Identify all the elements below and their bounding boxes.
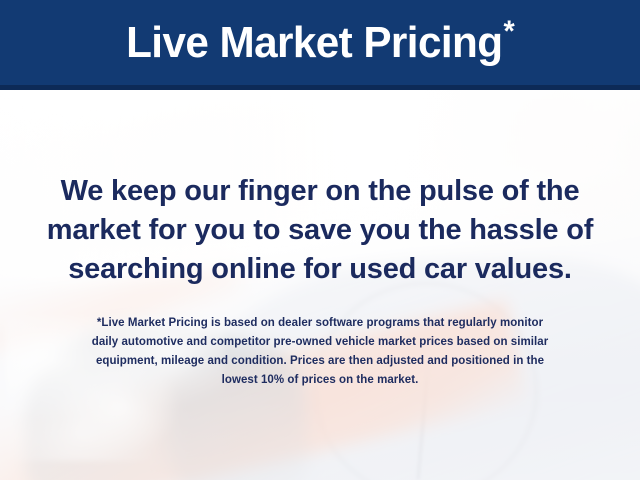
headline-line: market for you to save you the hassle of [18,211,622,250]
disclaimer-line: *Live Market Pricing is based on dealer … [24,314,616,333]
disclaimer-text: *Live Market Pricing is based on dealer … [0,314,640,390]
header-banner: Live Market Pricing* [0,0,640,90]
disclaimer-line: equipment, mileage and condition. Prices… [24,352,616,371]
headline-text: We keep our finger on the pulse of the m… [0,172,640,289]
live-market-pricing-graphic: Live Market Pricing* We keep our finger … [0,0,640,480]
disclaimer-line: lowest 10% of prices on the market. [24,371,616,390]
headline-line: We keep our finger on the pulse of the [18,172,622,211]
disclaimer-line: daily automotive and competitor pre-owne… [24,333,616,352]
content-area: We keep our finger on the pulse of the m… [0,90,640,480]
page-title-asterisk: * [503,15,514,48]
page-title-text: Live Market Pricing [126,18,502,67]
page-title: Live Market Pricing* [126,21,514,69]
headline-line: searching online for used car values. [18,250,622,289]
